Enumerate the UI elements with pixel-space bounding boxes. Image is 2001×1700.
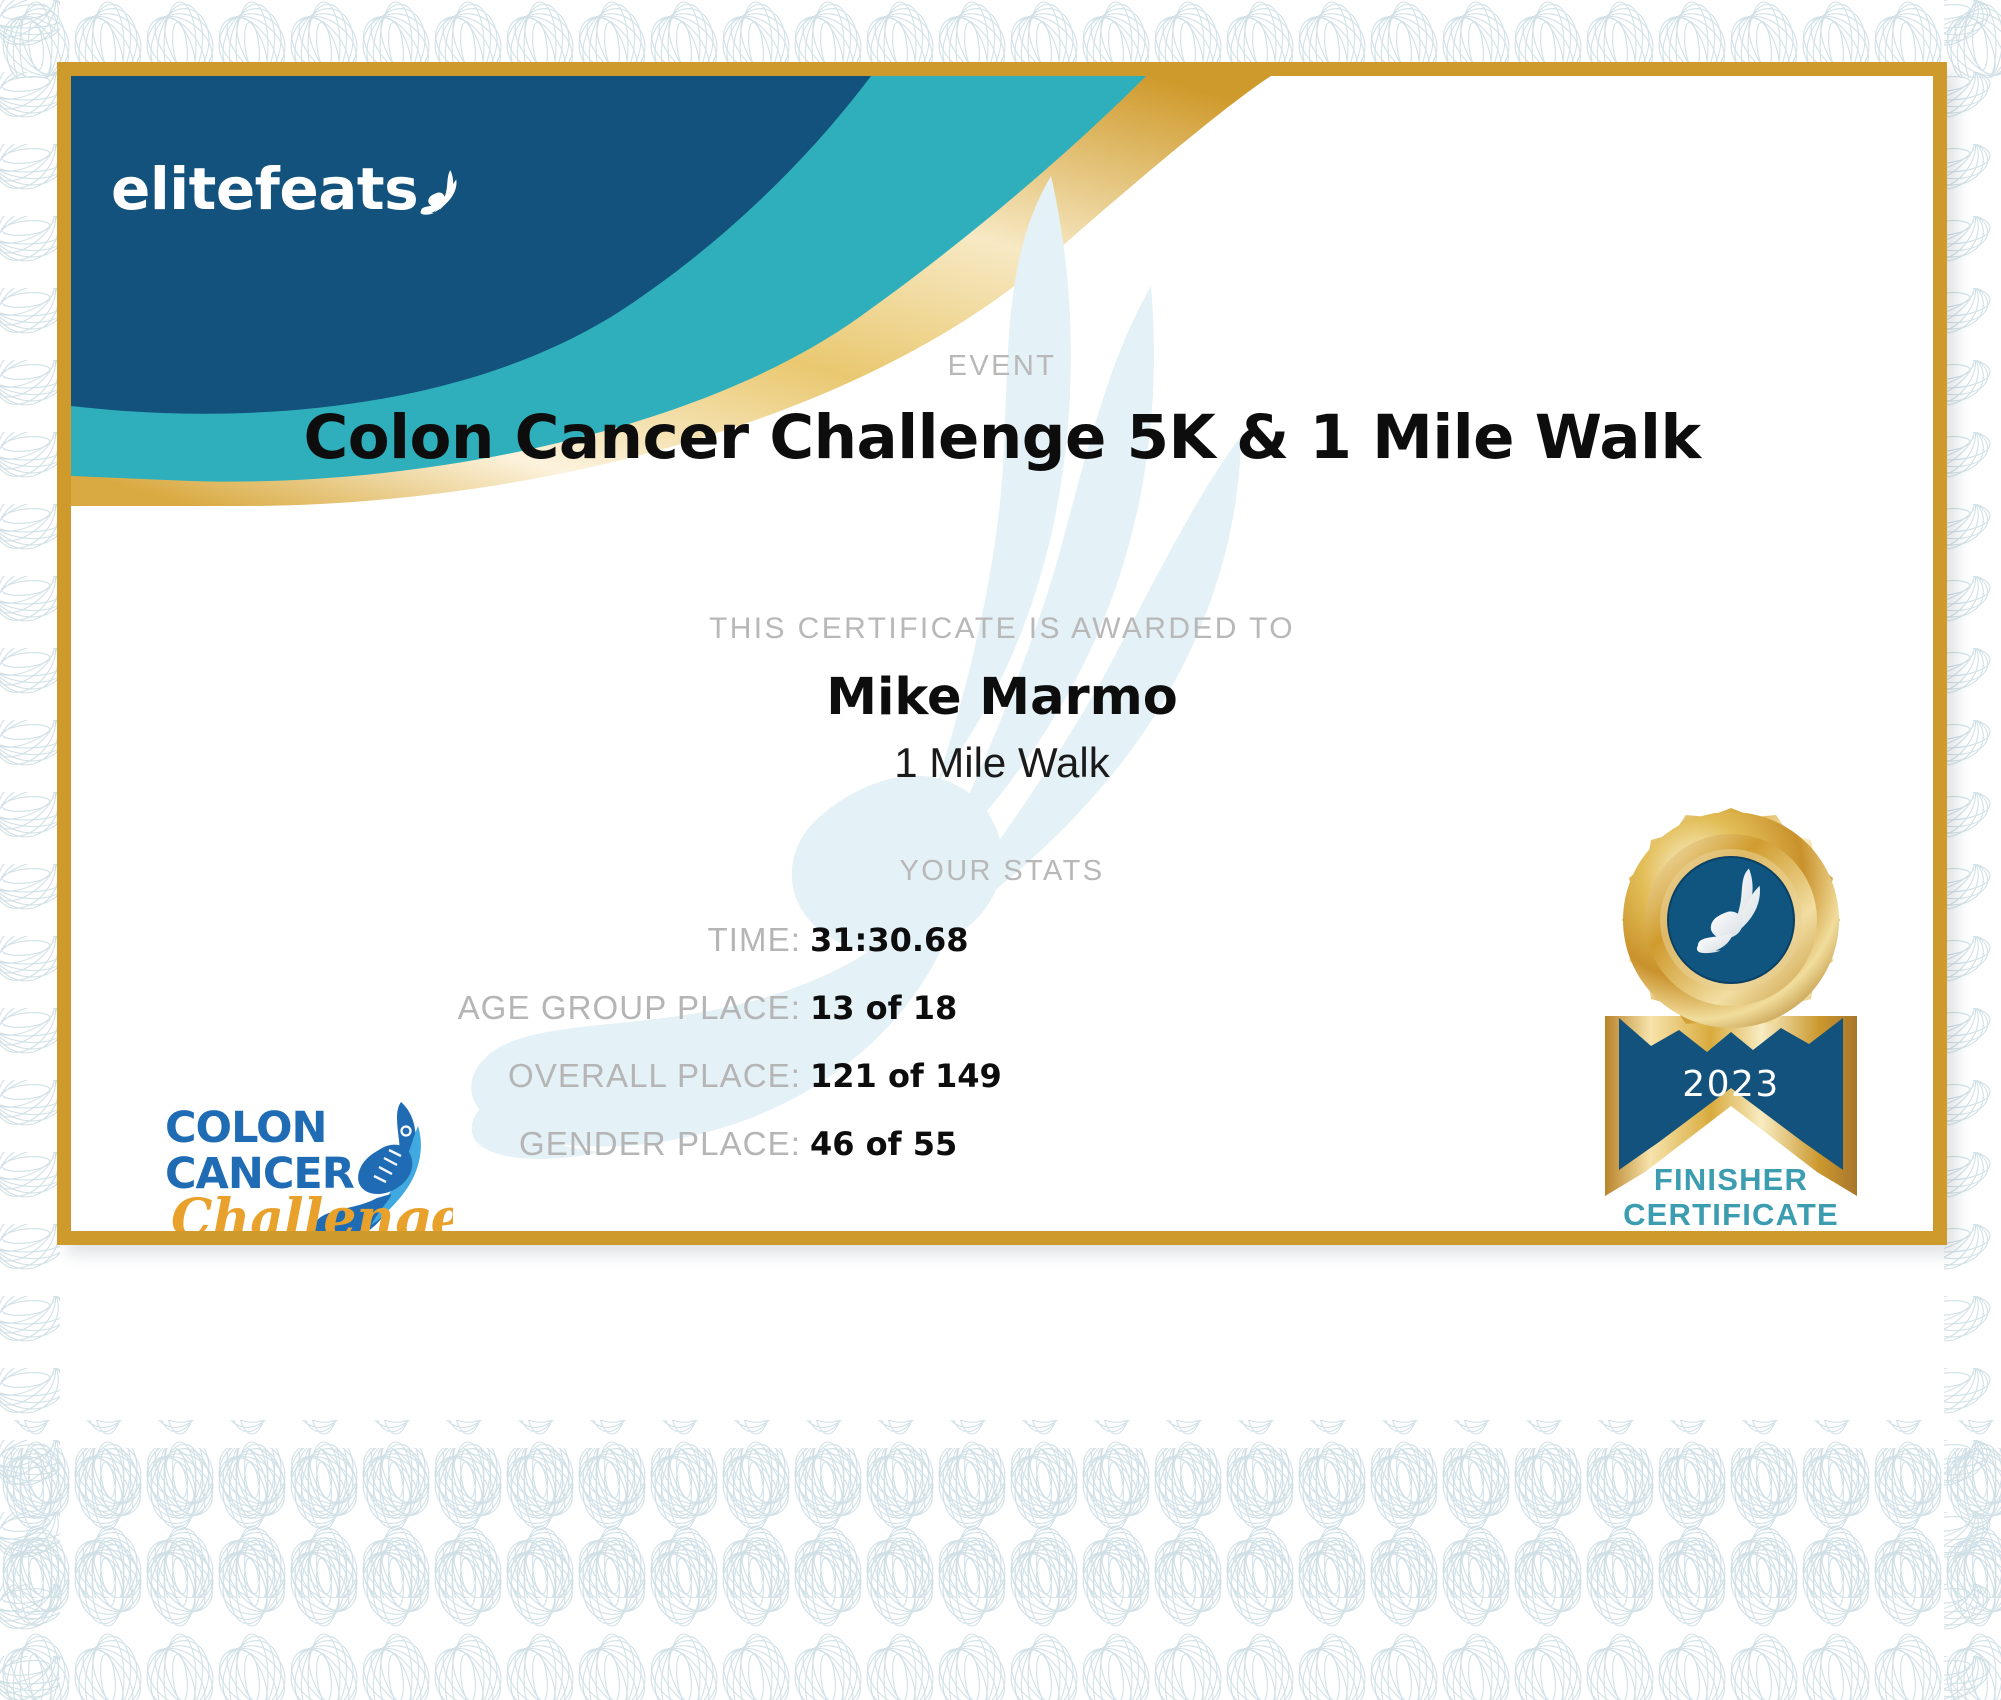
stat-value: 121 of 149 (810, 1057, 1002, 1095)
stat-label: OVERALL PLACE: (71, 1057, 810, 1095)
event-title: Colon Cancer Challenge 5K & 1 Mile Walk (71, 402, 1933, 473)
stat-label: TIME: (71, 921, 810, 959)
stat-label: AGE GROUP PLACE: (71, 989, 810, 1027)
certificate-page: elitefeats EVENT Colon Cancer Challenge … (0, 0, 2001, 1700)
svg-text:Challenge: Challenge (171, 1188, 453, 1231)
finisher-caption-line2: CERTIFICATE (1541, 1197, 1921, 1231)
awarded-to-label: THIS CERTIFICATE IS AWARDED TO (71, 612, 1933, 646)
stat-value: 31:30.68 (810, 921, 969, 959)
elitefeats-logo: elitefeats (111, 134, 461, 244)
stat-row-time: TIME: 31:30.68 (71, 921, 1579, 969)
finisher-certificate-caption: FINISHER CERTIFICATE (1541, 1162, 1921, 1231)
stat-value: 13 of 18 (810, 989, 957, 1027)
medal-year: 2023 (1682, 1064, 1780, 1105)
brand-wordmark: elitefeats (111, 160, 418, 218)
certificate-frame: elitefeats EVENT Colon Cancer Challenge … (57, 62, 1947, 1245)
event-label: EVENT (71, 350, 1933, 383)
stat-value: 46 of 55 (810, 1125, 957, 1163)
recipient-name: Mike Marmo (71, 668, 1933, 727)
stat-row-age-group-place: AGE GROUP PLACE: 13 of 18 (71, 989, 1579, 1037)
recipient-division: 1 Mile Walk (71, 739, 1933, 787)
finisher-caption-line1: FINISHER (1541, 1162, 1921, 1197)
svg-text:COLON: COLON (165, 1103, 327, 1153)
colon-cancer-challenge-logo: COLON CANCER Challenge COLON CANCER FOUN… (163, 1096, 453, 1231)
winged-foot-icon (420, 157, 461, 227)
